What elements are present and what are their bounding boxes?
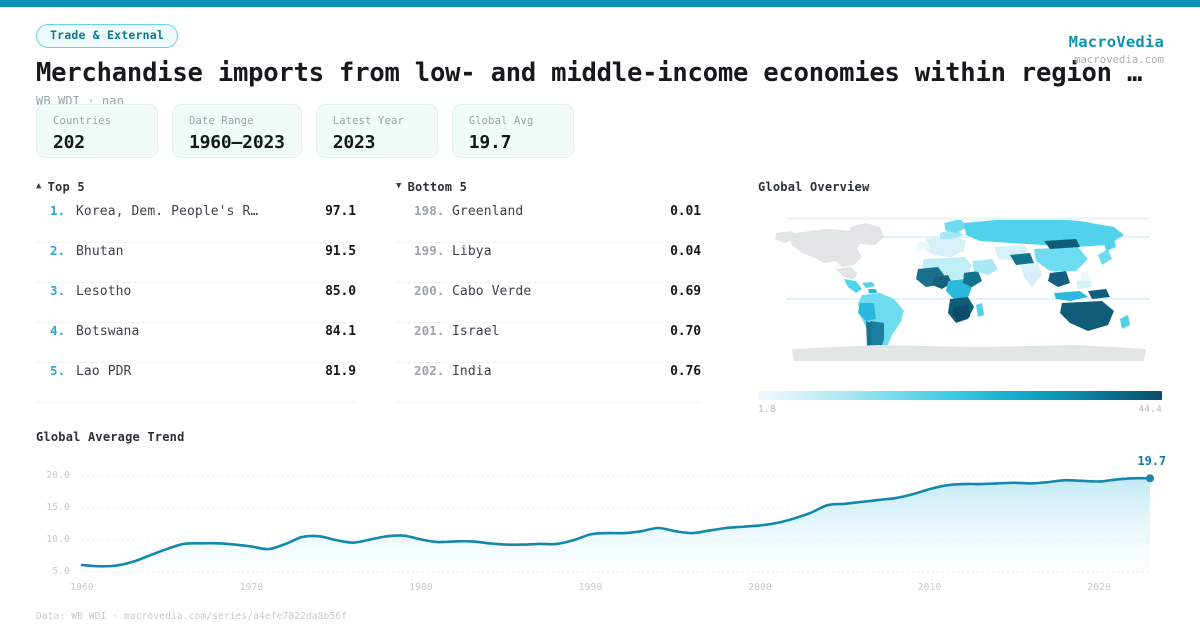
stat-label: Countries [53,116,141,128]
bottom-ranking-list: ▼ Bottom 5 198. Greenland 0.01 199. Liby… [396,180,701,403]
legend-max-label: 44.4 [1138,404,1162,415]
trend-area [82,478,1150,572]
rank-value: 0.04 [660,244,701,259]
x-axis-tick-label: 1960 [70,582,94,593]
stat-value: 202 [53,133,141,153]
stat-card-countries: Countries 202 [36,104,158,158]
list-item[interactable]: 201. Israel 0.70 [396,323,701,363]
trend-end-label: 19.7 [1138,454,1167,468]
list-item[interactable]: 1. Korea, Dem. People's R… 97.1 [36,203,356,243]
list-item[interactable]: 202. India 0.76 [396,363,701,403]
y-axis-tick-label: 15.0 [36,502,70,513]
stat-label: Date Range [189,116,285,128]
rank-number: 3. [50,283,76,298]
rank-value: 0.01 [660,204,701,219]
top-accent-bar [0,0,1200,7]
list-item[interactable]: 198. Greenland 0.01 [396,203,701,243]
series-card: Trade & External Merchandise imports fro… [0,0,1200,630]
rank-number: 199. [414,243,452,258]
map-legend: 1.8 44.4 [758,391,1162,415]
rank-country: India [452,364,660,379]
global-overview-panel: Global Overview [758,180,1162,415]
stat-card-global-avg: Global Avg 19.7 [452,104,574,158]
legend-colorbar [758,391,1162,400]
x-axis-tick-label: 2000 [748,582,772,593]
rank-number: 198. [414,203,452,218]
rank-value: 91.5 [315,244,356,259]
trend-chart[interactable]: 5.010.015.020.0 196019701980199020002010… [36,450,1164,580]
list-item[interactable]: 3. Lesotho 85.0 [36,283,356,323]
brand-url: macrovedia.com [1069,54,1164,66]
rank-number: 1. [50,203,76,218]
list-item[interactable]: 200. Cabo Verde 0.69 [396,283,701,323]
top-ranking-title: Top 5 [48,180,85,194]
rank-value: 0.69 [660,284,701,299]
rank-country: Bhutan [76,244,315,259]
x-axis-tick-label: 1970 [240,582,264,593]
map-svg [758,203,1162,385]
rank-country: Israel [452,324,660,339]
rank-country: Lesotho [76,284,315,299]
x-axis-tick-label: 2020 [1087,582,1111,593]
global-overview-heading: Global Overview [758,180,1162,194]
rank-country: Libya [452,244,660,259]
stat-card-latest-year: Latest Year 2023 [316,104,438,158]
page-title: Merchandise imports from low- and middle… [36,59,1036,88]
rank-value: 85.0 [315,284,356,299]
legend-labels: 1.8 44.4 [758,404,1162,415]
x-axis-tick-label: 1990 [579,582,603,593]
brand-name: MacroVedia [1069,33,1164,51]
rank-value: 84.1 [315,324,356,339]
rank-country: Lao PDR [76,364,315,379]
trend-chart-svg [36,450,1164,580]
stat-label: Global Avg [469,116,557,128]
rank-country: Cabo Verde [452,284,660,299]
x-axis-tick-label: 2010 [918,582,942,593]
list-item[interactable]: 4. Botswana 84.1 [36,323,356,363]
top-ranking-list: ▲ Top 5 1. Korea, Dem. People's R… 97.1 … [36,180,356,403]
x-axis-tick-label: 1980 [409,582,433,593]
rank-value: 0.70 [660,324,701,339]
bottom-ranking-heading: ▼ Bottom 5 [396,180,701,194]
trend-heading: Global Average Trend [36,430,1164,444]
rank-value: 0.76 [660,364,701,379]
list-item[interactable]: 2. Bhutan 91.5 [36,243,356,283]
rank-number: 5. [50,363,76,378]
footer-source: Data: WB WDI · macrovedia.com/series/a4e… [36,611,347,622]
stat-value: 2023 [333,133,421,153]
y-axis-tick-label: 20.0 [36,470,70,481]
triangle-down-icon: ▼ [396,182,402,191]
rank-number: 202. [414,363,452,378]
rank-country: Greenland [452,204,660,219]
rank-country: Korea, Dem. People's R… [76,204,315,219]
y-axis-tick-label: 5.0 [36,566,70,577]
rank-country: Botswana [76,324,315,339]
rank-number: 200. [414,283,452,298]
list-item[interactable]: 5. Lao PDR 81.9 [36,363,356,403]
world-choropleth-map[interactable] [758,203,1162,385]
category-badge[interactable]: Trade & External [36,24,178,48]
rank-value: 81.9 [315,364,356,379]
rank-number: 201. [414,323,452,338]
stat-label: Latest Year [333,116,421,128]
top-ranking-heading: ▲ Top 5 [36,180,356,194]
y-axis-tick-label: 10.0 [36,534,70,545]
rank-number: 2. [50,243,76,258]
stat-card-date-range: Date Range 1960–2023 [172,104,302,158]
stat-value: 1960–2023 [189,133,285,153]
stat-cards: Countries 202 Date Range 1960–2023 Lates… [36,104,574,158]
brand[interactable]: MacroVedia macrovedia.com [1069,33,1164,66]
stat-value: 19.7 [469,133,557,153]
list-item[interactable]: 199. Libya 0.04 [396,243,701,283]
header: Trade & External Merchandise imports fro… [36,24,1036,108]
bottom-ranking-title: Bottom 5 [408,180,467,194]
rank-value: 97.1 [315,204,356,219]
legend-min-label: 1.8 [758,404,776,415]
trend-panel: Global Average Trend 5.010.015.020.0 196… [36,430,1164,580]
trend-end-point [1146,474,1154,482]
rank-number: 4. [50,323,76,338]
triangle-up-icon: ▲ [36,182,42,191]
